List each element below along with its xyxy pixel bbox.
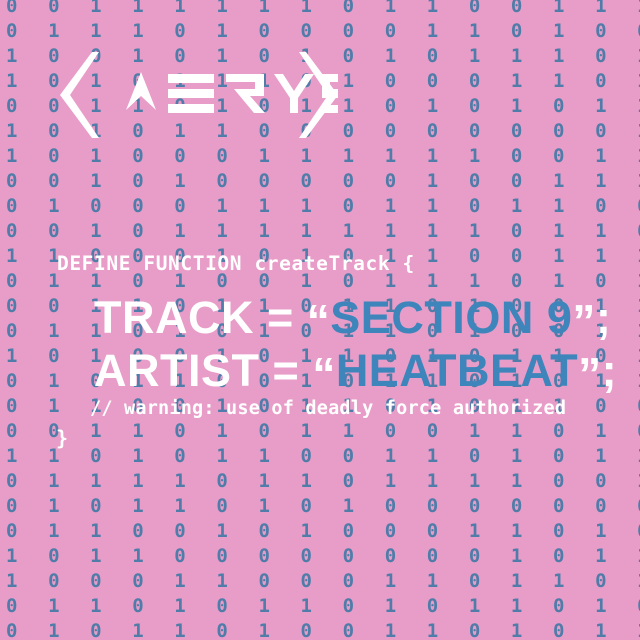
comment-text: // warning: use of deadly force authoriz… [90, 398, 566, 419]
binary-row: 0 0 1 0 1 0 0 0 0 0 1 0 0 1 1 1 1 0 0 0 … [0, 169, 640, 194]
letter-e-glyph [168, 74, 214, 83]
binary-row: 1 0 1 1 0 0 0 0 0 0 0 0 1 0 1 1 0 1 0 0 … [0, 544, 640, 569]
binary-row: 1 0 0 0 1 1 0 0 0 1 1 0 1 1 0 1 1 1 0 0 … [0, 569, 640, 594]
code-line-track: TRACK = “SECTION 9”; [94, 292, 611, 344]
binary-row: 0 1 1 0 1 0 1 1 0 1 0 1 1 0 1 0 0 1 1 0 … [0, 594, 640, 619]
artist-equals: = [273, 345, 300, 396]
code-line-define: DEFINE FUNCTION createTrack { [57, 252, 415, 275]
binary-row: 0 1 1 0 0 1 0 1 0 0 0 1 1 0 1 0 1 1 0 0 … [0, 519, 640, 544]
binary-row: 0 0 1 1 1 1 1 1 0 1 1 0 0 1 1 1 0 1 0 1 … [0, 0, 640, 19]
artist-key: ARTIST [94, 345, 260, 396]
track-semicolon: ; [596, 292, 612, 343]
artist-close-quote: ” [578, 348, 602, 400]
left-bracket-icon [60, 52, 99, 138]
closing-brace-text: } [56, 426, 68, 450]
binary-row: 0 1 0 1 1 0 1 0 1 0 0 0 0 0 0 0 1 0 0 1 … [0, 494, 640, 519]
letter-y-glyph [274, 74, 314, 113]
artist-semicolon: ; [602, 345, 618, 396]
binary-row: 0 1 1 1 0 1 0 0 0 0 1 1 0 1 0 0 0 0 1 1 … [0, 19, 640, 44]
artist-open-quote: “ [312, 348, 336, 400]
track-equals: = [267, 292, 294, 343]
code-line-closing-brace: } [56, 426, 68, 450]
track-open-quote: “ [307, 295, 331, 347]
track-close-quote: ” [572, 295, 596, 347]
track-key: TRACK [94, 292, 254, 343]
binary-row: 0 0 1 0 1 1 1 1 1 1 1 1 0 1 1 0 0 1 0 1 … [0, 219, 640, 244]
binary-row: 0 1 0 1 1 0 1 0 0 1 1 0 1 0 1 1 0 1 0 0 … [0, 619, 640, 640]
code-line-comment: // warning: use of deadly force authoriz… [90, 398, 566, 419]
binary-row: 1 1 0 1 0 1 1 0 0 1 1 0 1 0 1 1 0 0 1 0 … [0, 444, 640, 469]
binary-row: 0 1 1 1 1 0 1 1 0 1 1 1 1 0 0 1 1 0 1 1 … [0, 469, 640, 494]
aerys-logo [58, 52, 338, 138]
track-value: SECTION 9 [330, 292, 572, 343]
binary-row: 0 0 1 1 0 1 0 1 1 0 0 1 1 0 1 0 1 1 0 0 … [0, 419, 640, 444]
album-cover: 0 0 1 1 1 1 1 1 0 1 1 0 0 1 1 1 0 1 0 1 … [0, 0, 640, 640]
letter-r-glyph [226, 74, 265, 113]
code-line-artist: ARTIST = “HEATBEAT”; [94, 345, 617, 397]
binary-row: 0 1 0 0 0 1 1 1 0 1 1 0 1 1 0 0 0 0 1 0 … [0, 194, 640, 219]
binary-row: 1 0 1 0 0 0 1 1 1 1 1 1 0 0 1 1 1 1 1 1 … [0, 144, 640, 169]
artist-value: HEATBEAT [336, 345, 578, 396]
define-function-text: DEFINE FUNCTION createTrack { [57, 252, 415, 275]
letter-a-glyph [126, 72, 156, 110]
right-bracket-icon [299, 52, 338, 138]
